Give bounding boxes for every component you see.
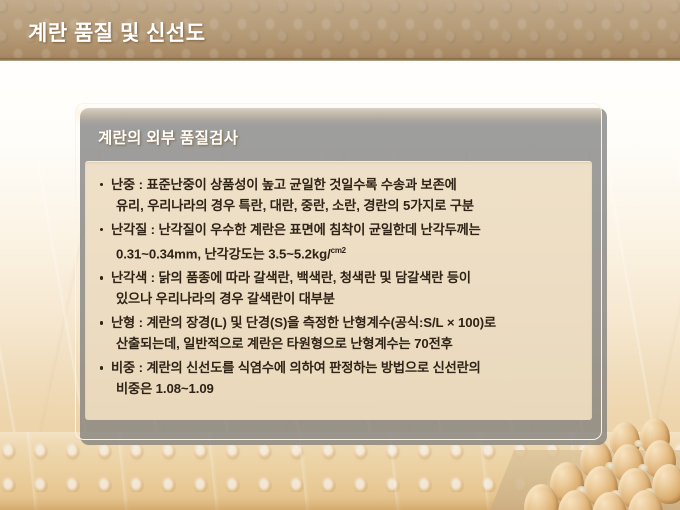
list-item: 난형 : 계란의 장경(L) 및 단경(S)을 측정한 난형계수(공식:S/L … bbox=[99, 313, 578, 354]
unit-superscript: cm2 bbox=[331, 246, 346, 255]
list-item: 비중 : 계란의 신선도를 식염수에 의하여 판정하는 방법으로 신선란의 비중… bbox=[99, 358, 578, 399]
list-item: 난각질 : 난각질이 우수한 계란은 표면에 침착이 균일한데 난각두께는 0.… bbox=[99, 220, 578, 264]
bullet-line-2-text: 0.31~0.34mm, 난각강도는 3.5~5.2kg/ bbox=[116, 246, 331, 261]
header-divider bbox=[0, 58, 680, 61]
list-item: 난중 : 표준난중이 상품성이 높고 균일한 것일수록 수송과 보존에 유리, … bbox=[99, 175, 578, 216]
bullet-line-1: 난중 : 표준난중이 상품성이 높고 균일한 것일수록 수송과 보존에 bbox=[111, 175, 578, 196]
panel-body: 난중 : 표준난중이 상품성이 높고 균일한 것일수록 수송과 보존에 유리, … bbox=[85, 161, 592, 420]
slide-canvas: 계란 품질 및 신선도 계란의 bbox=[0, 0, 680, 510]
bullet-line-2: 0.31~0.34mm, 난각강도는 3.5~5.2kg/cm2 bbox=[111, 241, 578, 265]
bullet-line-2: 비중은 1.08~1.09 bbox=[111, 379, 578, 400]
bullet-line-2: 산출되는데, 일반적으로 계란은 타원형으로 난형계수는 70전후 bbox=[111, 334, 578, 355]
content-panel: 계란의 외부 품질검사 난중 : 표준난중이 상품성이 높고 균일한 것일수록 … bbox=[75, 103, 602, 440]
bullet-line-2: 있으나 우리나라의 경우 갈색란이 대부분 bbox=[111, 289, 578, 310]
list-item: 난각색 : 닭의 품종에 따라 갈색란, 백색란, 청색란 및 담갈색란 등이 … bbox=[99, 268, 578, 309]
bullet-list: 난중 : 표준난중이 상품성이 높고 균일한 것일수록 수송과 보존에 유리, … bbox=[99, 175, 578, 399]
bullet-line-1: 난각색 : 닭의 품종에 따라 갈색란, 백색란, 청색란 및 담갈색란 등이 bbox=[111, 268, 578, 289]
unit-base: cm bbox=[331, 246, 342, 255]
bullet-line-2: 유리, 우리나라의 경우 특란, 대란, 중란, 소란, 경란의 5가지로 구분 bbox=[111, 196, 578, 217]
panel-title: 계란의 외부 품질검사 bbox=[98, 126, 238, 148]
panel-header-gloss bbox=[76, 104, 602, 126]
bullet-line-1: 난각질 : 난각질이 우수한 계란은 표면에 침착이 균일한데 난각두께는 bbox=[111, 220, 578, 241]
page-title: 계란 품질 및 신선도 bbox=[28, 17, 206, 47]
bullet-line-1: 비중 : 계란의 신선도를 식염수에 의하여 판정하는 방법으로 신선란의 bbox=[111, 358, 578, 379]
unit-exponent: 2 bbox=[342, 246, 346, 255]
bullet-line-1: 난형 : 계란의 장경(L) 및 단경(S)을 측정한 난형계수(공식:S/L … bbox=[111, 313, 578, 334]
